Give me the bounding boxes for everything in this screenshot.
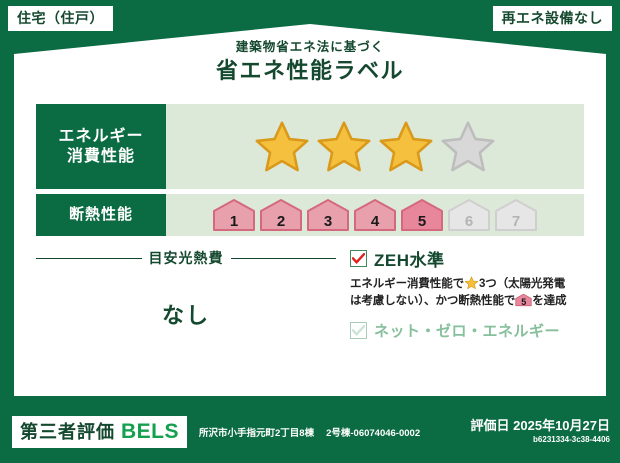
bels-mark: BELS (121, 421, 179, 442)
grade-number: 6 (447, 214, 491, 229)
property-address: 所沢市小手指元町2丁目8棟 (199, 425, 314, 439)
energy-performance-row: エネルギー 消費性能 (36, 104, 584, 189)
insulation-grade-7: 7 (494, 198, 538, 232)
energy-cost-heading-text: 目安光熱費 (149, 248, 224, 268)
insulation-performance-label: 断熱性能 (36, 194, 166, 236)
badge-dwelling-type: 住宅（住戸） (8, 6, 113, 31)
star-icon (464, 276, 479, 290)
rating-region: エネルギー 消費性能 断熱性能 1234567 (36, 104, 584, 241)
inline-grade-house-icon: 5 (515, 293, 532, 307)
insulation-grade-3: 3 (306, 198, 350, 232)
energy-performance-value (166, 104, 584, 189)
energy-cost-panel: 目安光熱費 なし (36, 242, 336, 341)
zeh-title: ZEH水準 (374, 246, 445, 271)
star-icon-filled (378, 119, 434, 175)
page-title: 省エネ性能ラベル (14, 59, 606, 83)
net-zero-energy-checkbox[interactable] (350, 322, 367, 339)
insulation-grade-6: 6 (447, 198, 491, 232)
grade-number: 2 (259, 214, 303, 229)
grade-number: 3 (306, 214, 350, 229)
title-subtitle: 建築物省エネ法に基づく (14, 41, 606, 55)
energy-cost-heading: 目安光熱費 (36, 248, 336, 268)
rule-left-icon (36, 258, 142, 259)
building-code: 2号棟-06074046-0002 (326, 425, 420, 439)
zeh-title-line: ZEH水準 (350, 246, 592, 271)
energy-performance-label: 住宅（住戸） 再エネ設備なし 建築物省エネ法に基づく 省エネ性能ラベル エネルギ… (0, 0, 620, 463)
insulation-grade-1: 1 (212, 198, 256, 232)
star-icon-empty (440, 119, 496, 175)
zeh-desc-part3: を達成 (532, 295, 566, 307)
insulation-grade-2: 2 (259, 198, 303, 232)
zeh-desc-part1: エネルギー消費性能で (350, 278, 464, 290)
evaluation-date-block: 評価日 2025年10月27日 b6231334-3c38-4406 (471, 419, 610, 445)
zeh-desc-stars: 3つ（太陽光発電 (479, 278, 565, 290)
star-icon-filled (316, 119, 372, 175)
footer-bar: 第三者評価 BELS 所沢市小手指元町2丁目8棟 2号棟-06074046-00… (0, 400, 620, 463)
evaluation-code: b6231334-3c38-4406 (471, 435, 610, 445)
inline-grade-number: 5 (515, 298, 532, 307)
rule-right-icon (231, 258, 337, 259)
energy-label-line2: 消費性能 (67, 147, 135, 167)
star-rating (254, 119, 496, 175)
third-party-evaluation-label: 第三者評価 (20, 423, 115, 441)
energy-performance-label: エネルギー 消費性能 (36, 104, 166, 189)
check-icon-disabled (352, 325, 365, 336)
label-content-area: 建築物省エネ法に基づく 省エネ性能ラベル エネルギー 消費性能 断熱性能 123… (14, 24, 606, 396)
net-zero-energy-line: ネット・ゼロ・エネルギー (350, 320, 592, 341)
grade-number: 5 (400, 214, 444, 229)
insulation-performance-row: 断熱性能 1234567 (36, 194, 584, 236)
insulation-performance-value: 1234567 (166, 194, 584, 236)
zeh-panel: ZEH水準 エネルギー消費性能で3つ（太陽光発電は考慮しない）、かつ断熱性能で5… (336, 242, 592, 341)
zeh-description: エネルギー消費性能で3つ（太陽光発電は考慮しない）、かつ断熱性能で5を達成 (350, 276, 592, 311)
grade-number: 7 (494, 214, 538, 229)
zeh-checkbox[interactable] (350, 250, 367, 267)
address-block: 所沢市小手指元町2丁目8棟 2号棟-06074046-0002 (199, 425, 471, 439)
lower-region: 目安光熱費 なし ZEH水準 エネルギー消費性能で3つ（太陽光発電は考慮しない）… (36, 242, 592, 341)
evaluation-date: 評価日 2025年10月27日 (471, 419, 610, 434)
insulation-grade-4: 4 (353, 198, 397, 232)
badge-renewable-equipment: 再エネ設備なし (493, 6, 613, 31)
insulation-grade-5: 5 (400, 198, 444, 232)
bels-logo: 第三者評価 BELS (10, 414, 189, 450)
label-title-block: 建築物省エネ法に基づく 省エネ性能ラベル (14, 41, 606, 83)
grade-number: 4 (353, 214, 397, 229)
insulation-grade-scale: 1234567 (212, 198, 538, 232)
zeh-desc-part2: は考慮しない）、かつ断熱性能で (350, 295, 515, 307)
net-zero-energy-title: ネット・ゼロ・エネルギー (374, 320, 560, 341)
energy-cost-value: なし (36, 298, 336, 330)
check-icon (352, 253, 365, 264)
star-icon-filled (254, 119, 310, 175)
grade-number: 1 (212, 214, 256, 229)
energy-label-line1: エネルギー (58, 127, 143, 147)
